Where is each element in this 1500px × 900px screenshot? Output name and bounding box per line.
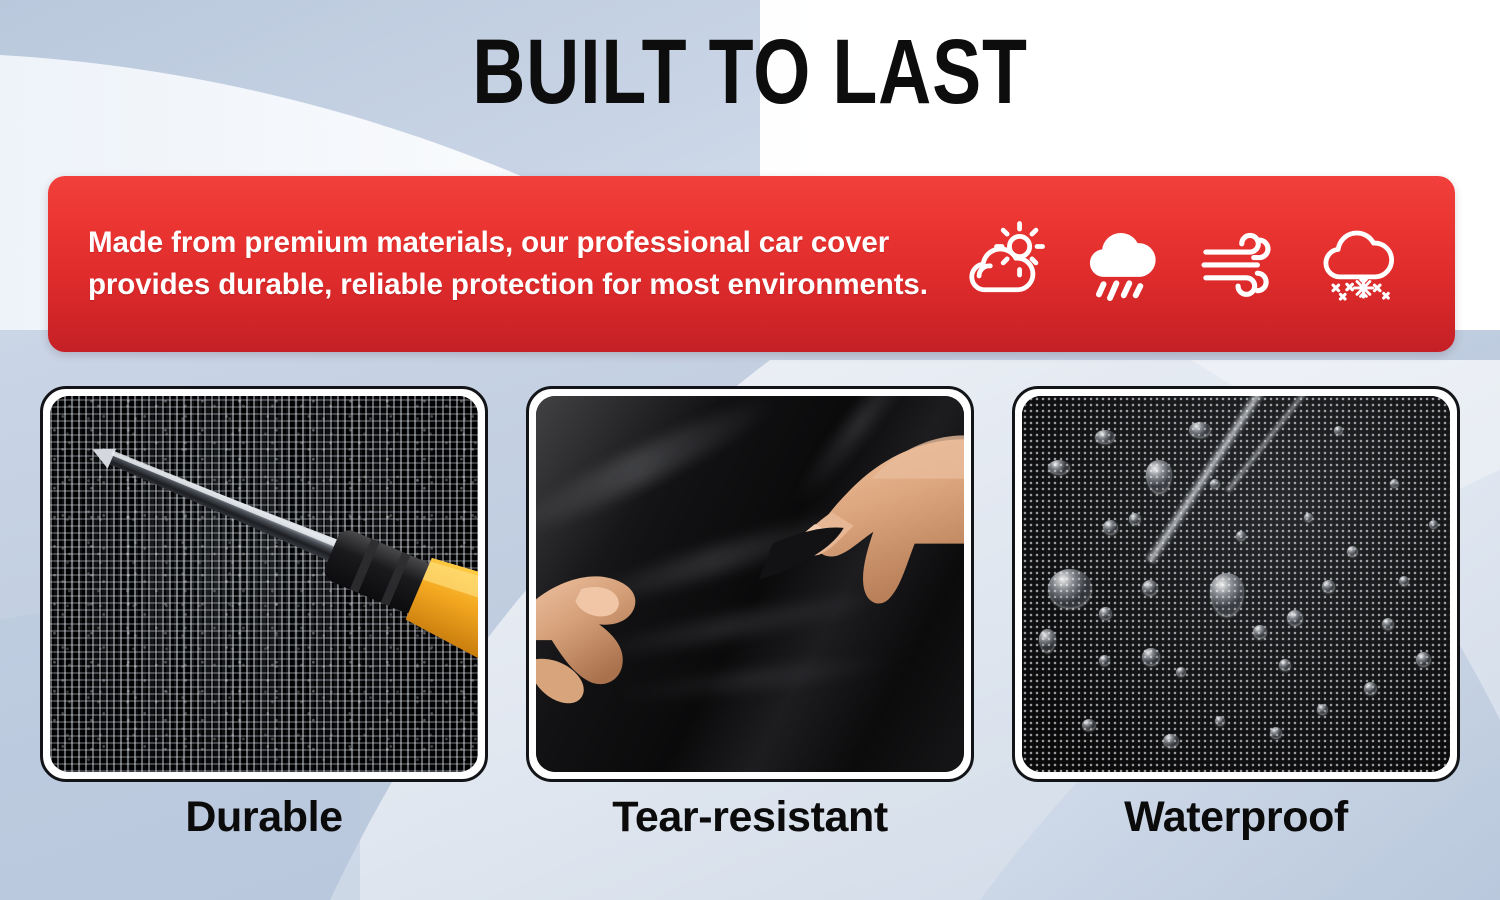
water-beads-fabric-photo	[1022, 396, 1450, 772]
hands-stretching-fabric-photo	[536, 396, 964, 772]
photo-frame-durable	[40, 386, 488, 782]
photo-frame-waterproof	[1012, 386, 1460, 782]
woven-fabric-screwdriver-photo	[50, 396, 478, 772]
wind-icon	[1193, 218, 1285, 310]
infographic-poster: BUILT TO LAST Made from premium material…	[0, 0, 1500, 900]
hands-illustration	[536, 396, 964, 772]
feature-label-durable: Durable	[40, 794, 488, 841]
sun-behind-cloud-icon	[957, 218, 1049, 310]
rain-cloud-icon	[1075, 218, 1167, 310]
photo-frame-tear-resistant	[526, 386, 974, 782]
feature-label-waterproof: Waterproof	[1012, 794, 1460, 841]
page-title: BUILT TO LAST	[150, 26, 1350, 118]
feature-card-durable: Durable	[40, 386, 488, 841]
feature-label-tear-resistant: Tear-resistant	[526, 794, 974, 841]
promo-banner: Made from premium materials, our profess…	[48, 176, 1455, 352]
weather-icon-group	[957, 218, 1425, 310]
screwdriver-illustration	[50, 396, 478, 772]
feature-card-tear-resistant: Tear-resistant	[526, 386, 974, 841]
promo-banner-text: Made from premium materials, our profess…	[88, 222, 957, 306]
feature-card-waterproof: Waterproof	[1012, 386, 1460, 841]
feature-card-row: Durable	[40, 386, 1460, 841]
snow-cloud-icon	[1311, 218, 1403, 310]
